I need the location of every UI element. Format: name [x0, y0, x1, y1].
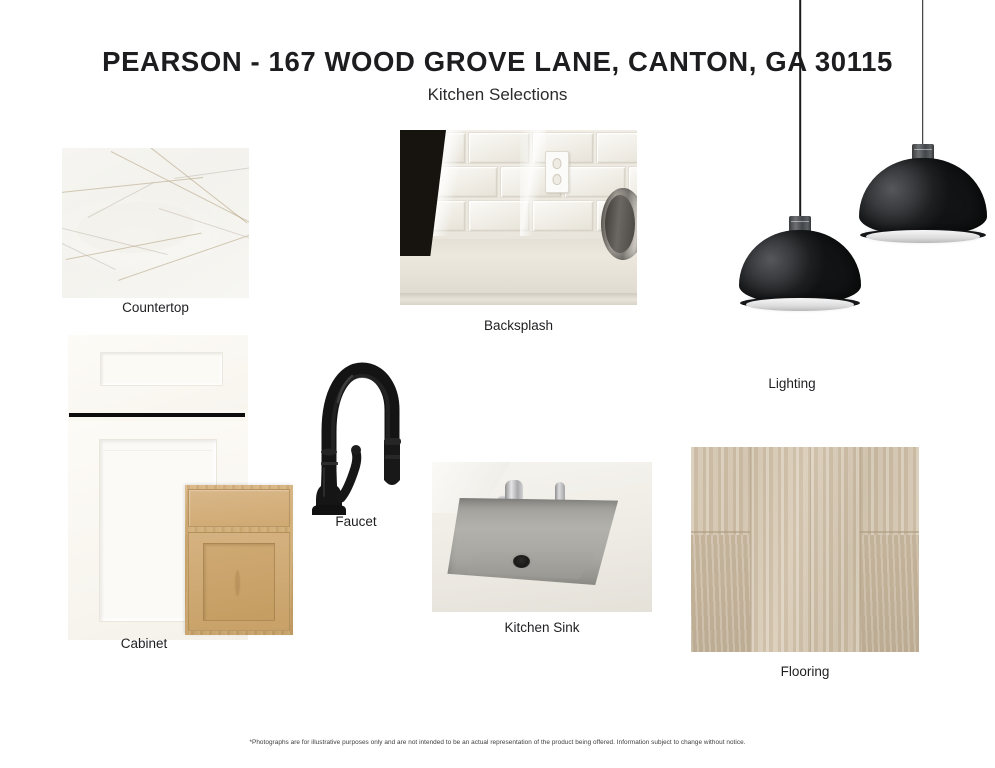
plank-vertical-seam	[810, 447, 812, 652]
backsplash-counter-surface	[400, 239, 637, 295]
selections-board: PEARSON - 167 WOOD GROVE LANE, CANTON, G…	[0, 0, 995, 768]
pendant-cord	[922, 0, 924, 146]
faucet-illustration	[300, 340, 410, 515]
pendant-light-left[interactable]	[735, 0, 865, 315]
flooring-swatch-image[interactable]	[691, 447, 919, 652]
outlet-socket	[552, 158, 561, 169]
pendant-inner-rim	[746, 298, 854, 311]
marble-vein	[174, 166, 249, 179]
faucet-photo-image[interactable]	[300, 340, 410, 515]
kitchen-sink-label: Kitchen Sink	[432, 620, 652, 635]
pendant-dome	[739, 230, 861, 304]
marble-vein	[62, 177, 203, 194]
cabinet-label: Cabinet	[74, 636, 214, 651]
pendant-dome	[859, 158, 987, 236]
plank-section	[691, 535, 750, 652]
backsplash-photo-image[interactable]	[400, 130, 637, 305]
kitchen-sink-photo-image[interactable]	[432, 462, 652, 612]
wall-outlet-icon	[545, 151, 569, 193]
countertop-label: Countertop	[62, 300, 249, 315]
subway-tile	[468, 132, 530, 164]
subway-tile	[436, 166, 498, 198]
cabinet-drawer-front	[68, 335, 248, 410]
backsplash-counter-edge	[400, 293, 637, 305]
plank-vertical-seam	[860, 447, 862, 652]
plank-butt-seam	[860, 531, 919, 533]
lighting-label: Lighting	[722, 376, 862, 391]
pendant-inner-rim	[866, 230, 980, 243]
outlet-socket	[552, 174, 561, 185]
plank-vertical-seam	[750, 447, 752, 652]
wood-knot	[235, 570, 240, 596]
flooring-label: Flooring	[691, 664, 919, 679]
wood-door-inset-panel	[203, 543, 275, 622]
pendant-cord	[799, 0, 801, 218]
backsplash-label: Backsplash	[400, 318, 637, 333]
disclaimer-text: *Photographs are for illustrative purpos…	[0, 739, 995, 746]
cabinet-divider-line	[69, 413, 245, 417]
subway-tile	[532, 200, 594, 232]
subway-tile	[468, 200, 530, 232]
plank-section	[860, 535, 919, 652]
lighting-photo-image[interactable]	[700, 0, 995, 400]
wood-door-front	[188, 532, 290, 631]
faucet-label: Faucet	[290, 514, 422, 529]
pendant-light-right[interactable]	[855, 0, 990, 250]
cabinet-wood-door-sample[interactable]	[185, 485, 293, 635]
stainless-appliance-inner	[605, 195, 635, 253]
wood-drawer-front	[188, 489, 290, 527]
cabinet-drawer-inset-panel	[100, 352, 222, 387]
subway-tile	[596, 132, 637, 164]
sink-chrome-faucet	[505, 480, 523, 502]
plank-butt-seam	[691, 531, 750, 533]
countertop-swatch-image[interactable]	[62, 148, 249, 298]
